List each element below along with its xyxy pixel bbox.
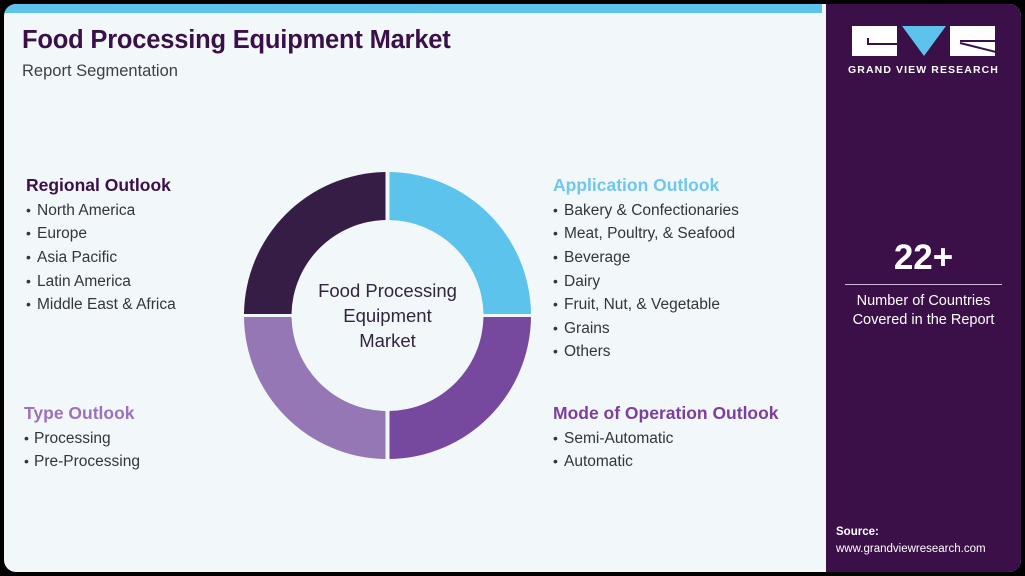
source-block: Source: www.grandviewresearch.com (836, 524, 1021, 558)
stat-value: 22+ (826, 240, 1021, 275)
list-item: Middle East & Africa (26, 293, 176, 317)
regional-outlook-list: North America Europe Asia Pacific Latin … (26, 199, 176, 317)
logo-v-triangle-icon (901, 26, 946, 56)
regional-outlook-heading: Regional Outlook (26, 175, 176, 197)
type-outlook-heading: Type Outlook (24, 403, 140, 425)
page-subtitle: Report Segmentation (22, 62, 782, 80)
logo-marks (826, 26, 1021, 56)
donut-segment-regional[interactable] (244, 172, 386, 314)
application-outlook-heading: Application Outlook (553, 175, 739, 197)
list-item: Asia Pacific (26, 246, 176, 270)
list-item: Semi-Automatic (553, 427, 779, 451)
donut-segment-type[interactable] (244, 317, 386, 459)
list-item: Dairy (553, 270, 739, 294)
donut-segment-application[interactable] (390, 172, 532, 314)
donut-chart: Food Processing Equipment Market (244, 172, 531, 459)
stat-block: 22+ Number of Countries Covered in the R… (826, 240, 1021, 330)
top-accent-bar (4, 4, 822, 13)
regional-outlook-block: Regional Outlook North America Europe As… (26, 175, 176, 317)
report-card: Food Processing Equipment Market Report … (4, 4, 1021, 572)
list-item: Grains (553, 317, 739, 341)
application-outlook-list: Bakery & Confectionaries Meat, Poultry, … (553, 199, 739, 364)
list-item: Meat, Poultry, & Seafood (553, 222, 739, 246)
list-item: Fruit, Nut, & Vegetable (553, 293, 739, 317)
mode-of-operation-outlook-heading: Mode of Operation Outlook (553, 403, 779, 425)
stat-caption-line-2: Covered in the Report (826, 311, 1021, 330)
list-item: Europe (26, 222, 176, 246)
donut-chart-svg (244, 172, 531, 459)
application-outlook-block: Application Outlook Bakery & Confectiona… (553, 175, 739, 364)
logo-r-icon (950, 26, 995, 56)
side-panel: GRAND VIEW RESEARCH 22+ Number of Countr… (826, 4, 1021, 572)
brand-logo: GRAND VIEW RESEARCH (826, 26, 1021, 76)
page-title: Food Processing Equipment Market (22, 26, 782, 54)
list-item: Bakery & Confectionaries (553, 199, 739, 223)
logo-g-icon (852, 26, 897, 56)
stat-divider (845, 284, 1002, 285)
list-item: North America (26, 199, 176, 223)
list-item: Processing (24, 427, 140, 451)
mode-of-operation-outlook-list: Semi-Automatic Automatic (553, 427, 779, 474)
source-label: Source: (836, 524, 1021, 541)
header: Food Processing Equipment Market Report … (22, 26, 782, 80)
type-outlook-list: Processing Pre-Processing (24, 427, 140, 474)
logo-wordmark: GRAND VIEW RESEARCH (826, 64, 1021, 76)
donut-segment-mode-of-operation[interactable] (390, 317, 532, 459)
source-url[interactable]: www.grandviewresearch.com (836, 541, 1021, 558)
list-item: Beverage (553, 246, 739, 270)
list-item: Automatic (553, 450, 779, 474)
type-outlook-block: Type Outlook Processing Pre-Processing (24, 403, 140, 474)
stat-caption-line-1: Number of Countries (826, 292, 1021, 311)
list-item: Others (553, 340, 739, 364)
list-item: Latin America (26, 270, 176, 294)
list-item: Pre-Processing (24, 450, 140, 474)
mode-of-operation-outlook-block: Mode of Operation Outlook Semi-Automatic… (553, 403, 779, 474)
